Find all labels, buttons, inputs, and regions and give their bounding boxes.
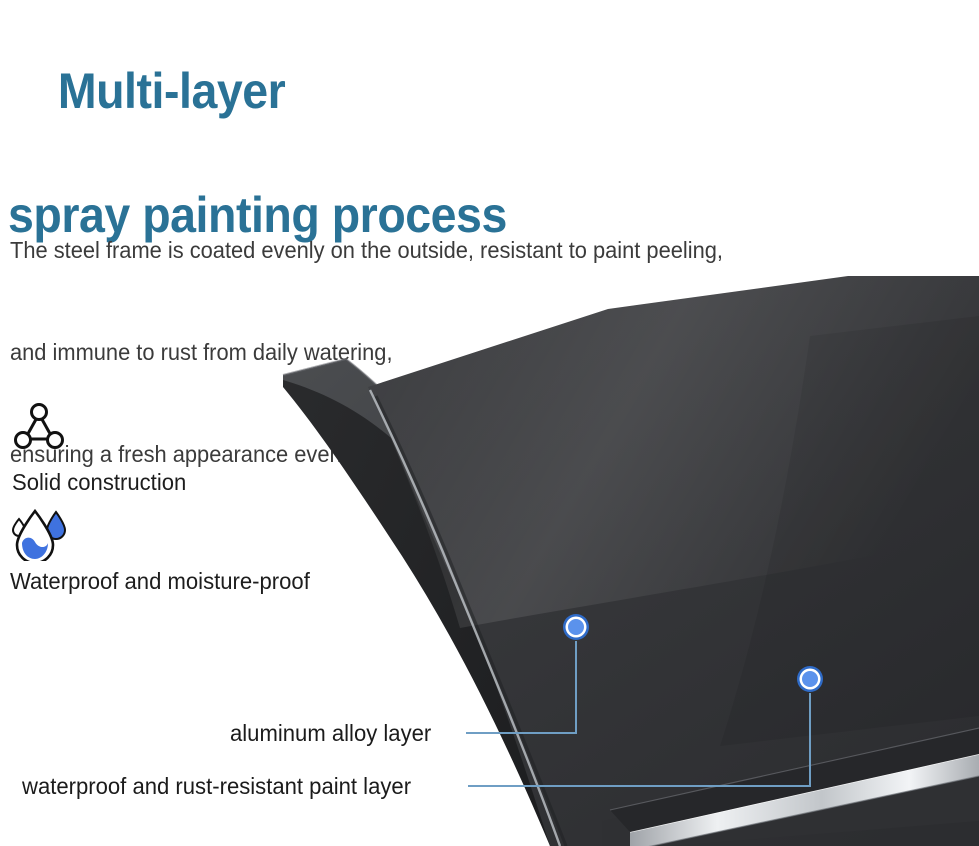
infographic-canvas: Multi-layer spray painting process The s… xyxy=(0,0,979,846)
feature-label-waterproof: Waterproof and moisture-proof xyxy=(10,567,310,595)
feature-label-solid-construction: Solid construction xyxy=(12,468,186,496)
water-droplet-icon xyxy=(10,505,70,566)
callout-label-paint-layer: waterproof and rust-resistant paint laye… xyxy=(22,773,411,799)
page-title-line-1: Multi-layer xyxy=(58,63,285,119)
product-photo xyxy=(250,276,979,846)
description-line-1: The steel frame is coated evenly on the … xyxy=(10,233,903,267)
triangle-nodes-icon xyxy=(12,400,66,459)
callout-label-aluminum-alloy-layer: aluminum alloy layer xyxy=(230,720,431,746)
